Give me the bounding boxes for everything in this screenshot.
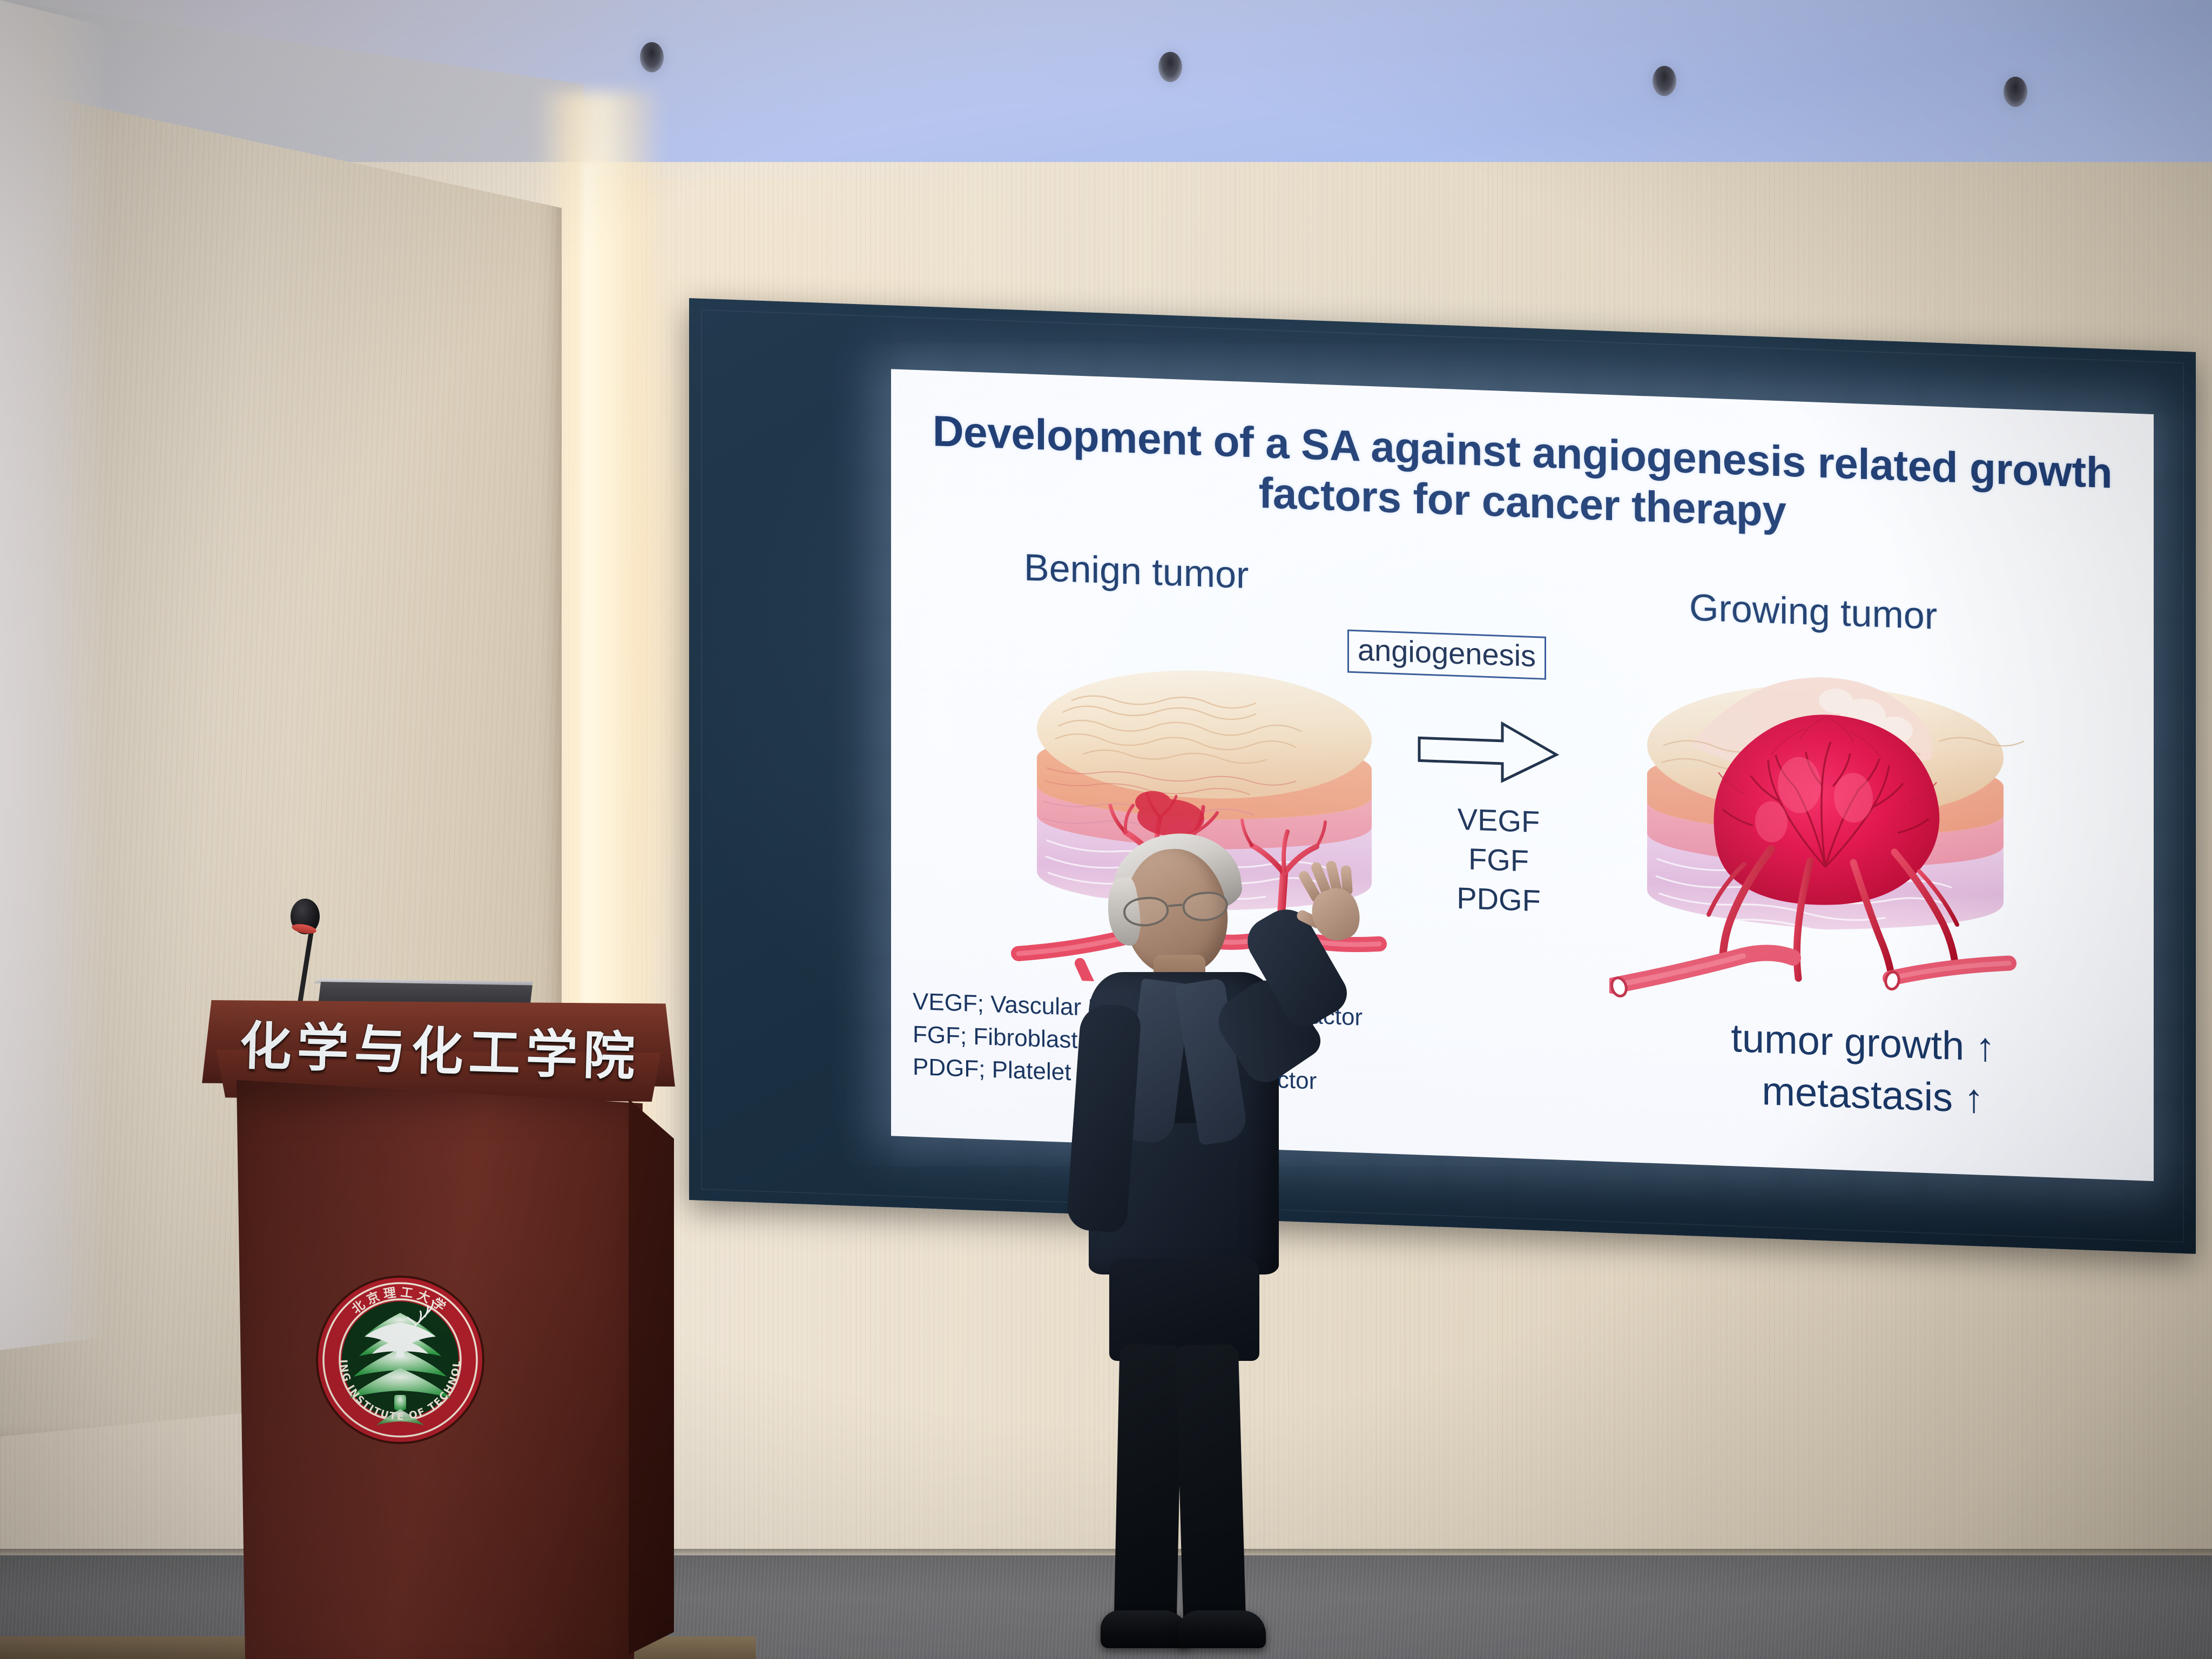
lens-right: [1182, 890, 1229, 923]
projection-screen[interactable]: Development of a SA against angiogenesis…: [689, 298, 2196, 1254]
glasses-bridge: [1168, 903, 1182, 907]
growing-tumor-illustration: [1609, 627, 2041, 1021]
growth-factor-list: VEGF FGF PDGF: [1410, 798, 1588, 922]
university-emblem: 北京理工大学 BEIJING INSTITUTE OF TECHNOLOGY: [313, 1273, 487, 1447]
angiogenesis-label: angiogenesis: [1358, 632, 1536, 673]
speaker-person: [1042, 826, 1377, 1653]
block-arrow-right-icon: [1410, 710, 1566, 796]
slide-title: Development of a SA against angiogenesis…: [923, 406, 2121, 549]
podium-nameplate-text: 化学与化工学院: [239, 1003, 642, 1090]
speaker-shoe-left: [1101, 1610, 1189, 1648]
growing-tumor-label: Growing tumor: [1689, 585, 1937, 637]
downlight-icon: [1158, 52, 1182, 82]
speaker-leg-right: [1176, 1344, 1246, 1626]
lens-left: [1122, 895, 1170, 928]
left-wall-edge: [0, 0, 108, 1350]
lecture-hall-scene: Development of a SA against angiogenesis…: [0, 0, 2212, 1659]
benign-tumor-label: Benign tumor: [1024, 545, 1249, 597]
podium-nameplate: 化学与化工学院: [226, 1000, 655, 1094]
downlight-icon: [640, 42, 664, 72]
downlight-icon: [2004, 77, 2027, 107]
speaker-leg-left: [1114, 1344, 1183, 1626]
downlight-icon: [1653, 66, 1676, 96]
outcome-text: tumor growth ↑ metastasis ↑: [1626, 1008, 2101, 1129]
podium-side-panel: [629, 1088, 674, 1655]
speaker-shoe-right: [1177, 1610, 1266, 1648]
angiogenesis-process-box: angiogenesis: [1347, 630, 1546, 680]
podium: 化学与化工学院: [190, 1000, 685, 1659]
